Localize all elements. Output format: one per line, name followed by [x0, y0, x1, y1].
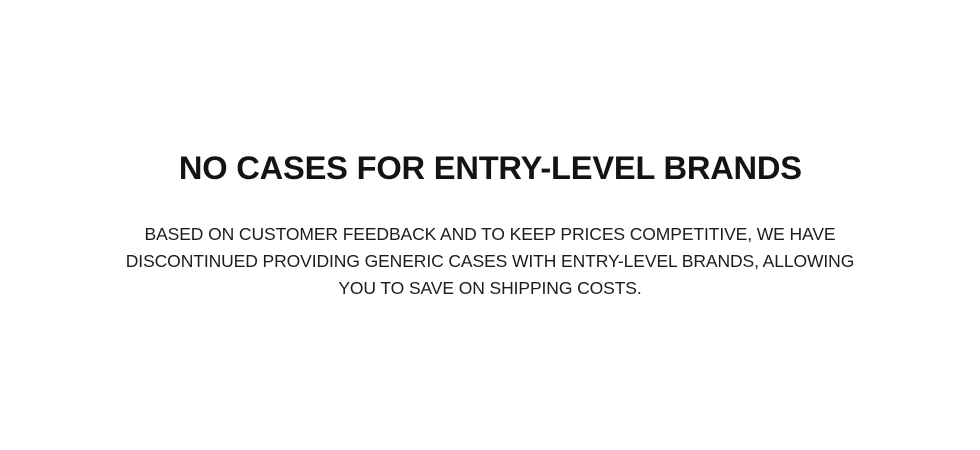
page-title: NO CASES FOR ENTRY-LEVEL BRANDS	[179, 151, 802, 185]
notice-description-line: DISCONTINUED PROVIDING GENERIC CASES WIT…	[90, 248, 890, 275]
notice-banner: NO CASES FOR ENTRY-LEVEL BRANDS BASED ON…	[0, 0, 980, 450]
notice-description: BASED ON CUSTOMER FEEDBACK AND TO KEEP P…	[90, 221, 890, 302]
notice-description-line: YOU TO SAVE ON SHIPPING COSTS.	[90, 275, 890, 302]
notice-description-line: BASED ON CUSTOMER FEEDBACK AND TO KEEP P…	[90, 221, 890, 248]
notice-content: NO CASES FOR ENTRY-LEVEL BRANDS BASED ON…	[40, 151, 940, 302]
